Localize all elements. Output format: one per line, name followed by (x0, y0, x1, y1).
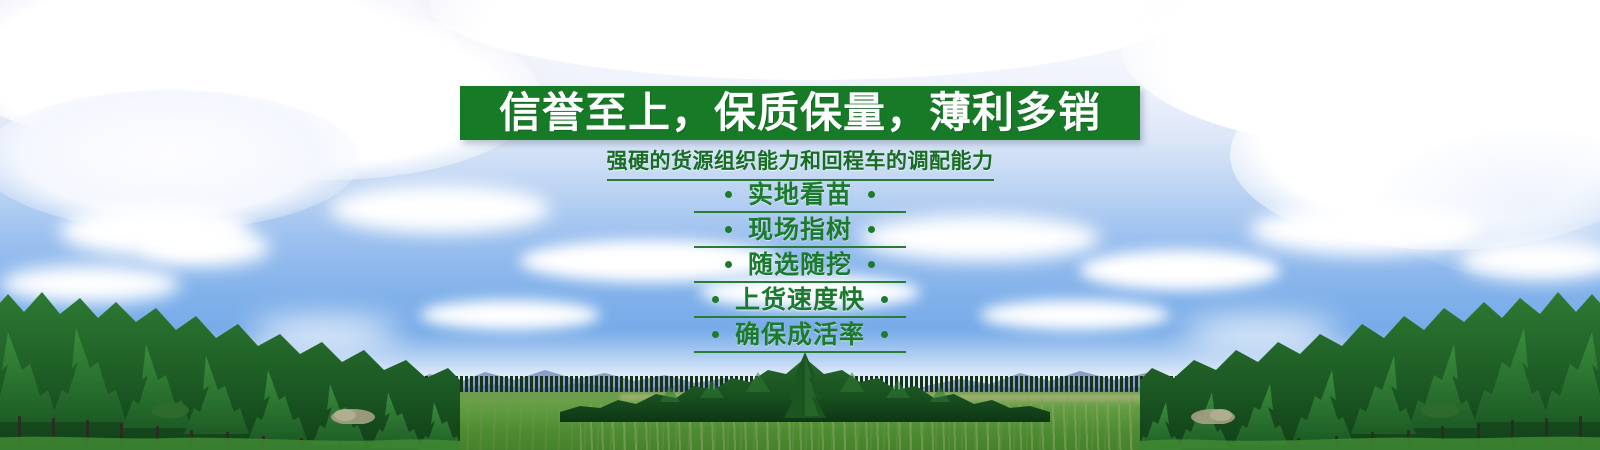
list-item-label: 实地看苗 (748, 182, 852, 207)
list-item: 确保成活率 (0, 318, 1600, 353)
bullet-dot-icon (725, 226, 732, 233)
headline-banner-bar: 信誉至上，保质保量，薄利多销 (460, 86, 1140, 140)
bullet-dot-icon (881, 296, 888, 303)
field-shrub (1190, 404, 1236, 424)
list-item: 实地看苗 (0, 178, 1600, 213)
list-item-label: 现场指树 (748, 217, 852, 242)
bullet-dot-icon (881, 331, 888, 338)
list-item: 现场指树 (0, 213, 1600, 248)
field-bush (1420, 396, 1460, 418)
list-item-label: 随选随挖 (748, 252, 852, 277)
list-item: 上货速度快 (0, 283, 1600, 318)
list-item-label: 上货速度快 (735, 287, 865, 312)
bullet-dot-icon (725, 191, 732, 198)
bullet-dot-icon (712, 331, 719, 338)
subtitle-text: 强硬的货源组织能力和回程车的调配能力 (607, 145, 994, 181)
bullet-dot-icon (712, 296, 719, 303)
bullet-dot-icon (725, 261, 732, 268)
bullet-dot-icon (868, 191, 875, 198)
subtitle-container: 强硬的货源组织能力和回程车的调配能力 (0, 145, 1600, 181)
promo-banner: 信誉至上，保质保量，薄利多销 强硬的货源组织能力和回程车的调配能力 实地看苗 现… (0, 0, 1600, 450)
list-item: 随选随挖 (0, 248, 1600, 283)
bullet-dot-icon (868, 261, 875, 268)
feature-point-list: 实地看苗 现场指树 随选随挖 上货速度快 (0, 178, 1600, 353)
list-item-label: 确保成活率 (735, 322, 865, 347)
bullet-dot-icon (868, 226, 875, 233)
field-bush (150, 396, 190, 418)
field-shrub (330, 404, 376, 424)
headline-text: 信誉至上，保质保量，薄利多销 (499, 92, 1101, 134)
center-tree-cluster (560, 352, 1050, 422)
